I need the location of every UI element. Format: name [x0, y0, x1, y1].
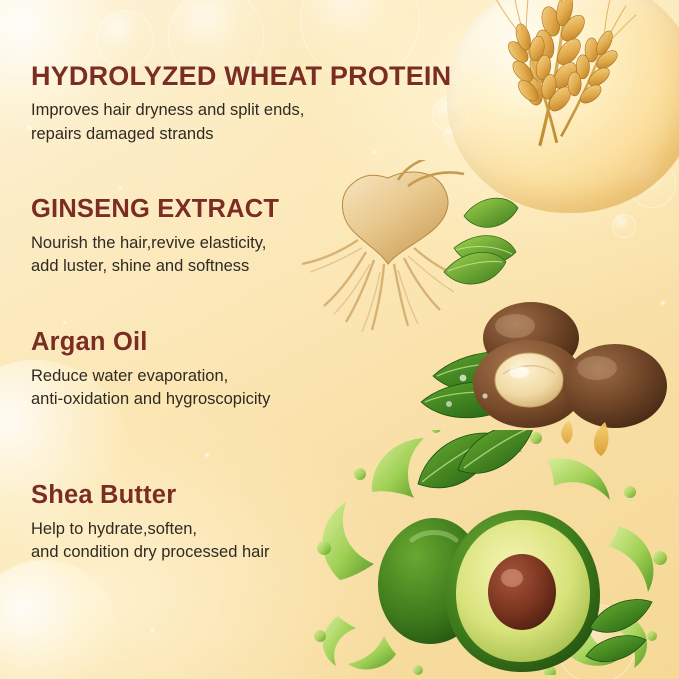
- sparkle-dot: [62, 320, 67, 325]
- sparkle-dot: [118, 186, 123, 191]
- sparkle-dot: [204, 452, 210, 458]
- bokeh-circle: [96, 10, 154, 68]
- ingredient-description-argan: Reduce water evaporation, anti-oxidation…: [31, 365, 270, 412]
- ingredient-description-wheat: Improves hair dryness and split ends, re…: [31, 99, 451, 146]
- ingredient-heading-ginseng: GINSENG EXTRACT: [31, 196, 279, 223]
- sparkle-dot: [372, 150, 377, 155]
- ingredient-block-shea: Shea Butter Help to hydrate,soften, and …: [31, 482, 269, 565]
- ingredient-block-ginseng: GINSENG EXTRACT Nourish the hair,revive …: [31, 196, 279, 279]
- ingredient-description-shea: Help to hydrate,soften, and condition dr…: [31, 518, 269, 565]
- avocado-splash-image: [300, 430, 672, 675]
- ingredient-description-ginseng: Nourish the hair,revive elasticity, add …: [31, 232, 279, 279]
- ingredient-block-argan: Argan Oil Reduce water evaporation, anti…: [31, 329, 270, 412]
- ingredient-heading-shea: Shea Butter: [31, 482, 269, 509]
- ingredient-benefits-poster: HYDROLYZED WHEAT PROTEIN Improves hair d…: [0, 0, 679, 679]
- ingredient-heading-argan: Argan Oil: [31, 329, 270, 356]
- bokeh-circle: [612, 214, 636, 238]
- avocado-icon: [300, 430, 672, 675]
- ingredient-block-wheat: HYDROLYZED WHEAT PROTEIN Improves hair d…: [31, 62, 451, 146]
- sparkle-dot: [150, 628, 155, 633]
- bokeh-circle: [0, 560, 120, 679]
- ingredient-heading-wheat: HYDROLYZED WHEAT PROTEIN: [31, 62, 451, 90]
